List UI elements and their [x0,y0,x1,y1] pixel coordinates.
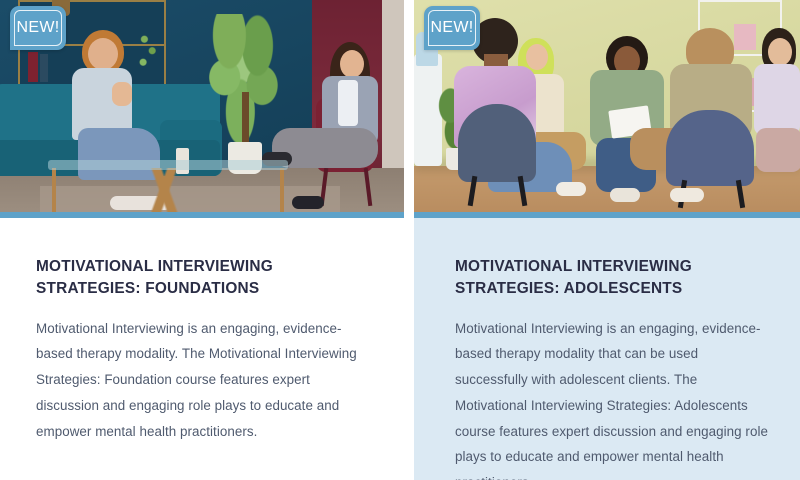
course-title: MOTIVATIONAL INTERVIEWING STRATEGIES: AD… [455,256,772,300]
course-card-body: MOTIVATIONAL INTERVIEWING STRATEGIES: FO… [0,218,404,444]
new-badge-label: NEW! [17,19,60,37]
new-badge-label: NEW! [431,19,474,37]
course-card-adolescents[interactable]: NEW! MOTIVATIONAL INTERVIEWING STRATEGIE… [414,0,800,480]
course-cards-grid: NEW! MOTIVATIONAL INTERVIEWING STRATEGIE… [0,0,800,480]
course-description: Motivational Interviewing is an engaging… [36,316,368,445]
new-badge: NEW! [10,6,66,50]
new-badge: NEW! [424,6,480,50]
course-title: MOTIVATIONAL INTERVIEWING STRATEGIES: FO… [36,256,368,300]
course-card-foundations[interactable]: NEW! MOTIVATIONAL INTERVIEWING STRATEGIE… [0,0,404,480]
course-card-body: MOTIVATIONAL INTERVIEWING STRATEGIES: AD… [414,218,800,480]
course-image-foundations[interactable]: NEW! [0,0,404,212]
card-gutter [404,0,414,480]
course-image-adolescents[interactable]: NEW! [414,0,800,212]
course-description: Motivational Interviewing is an engaging… [455,316,772,480]
